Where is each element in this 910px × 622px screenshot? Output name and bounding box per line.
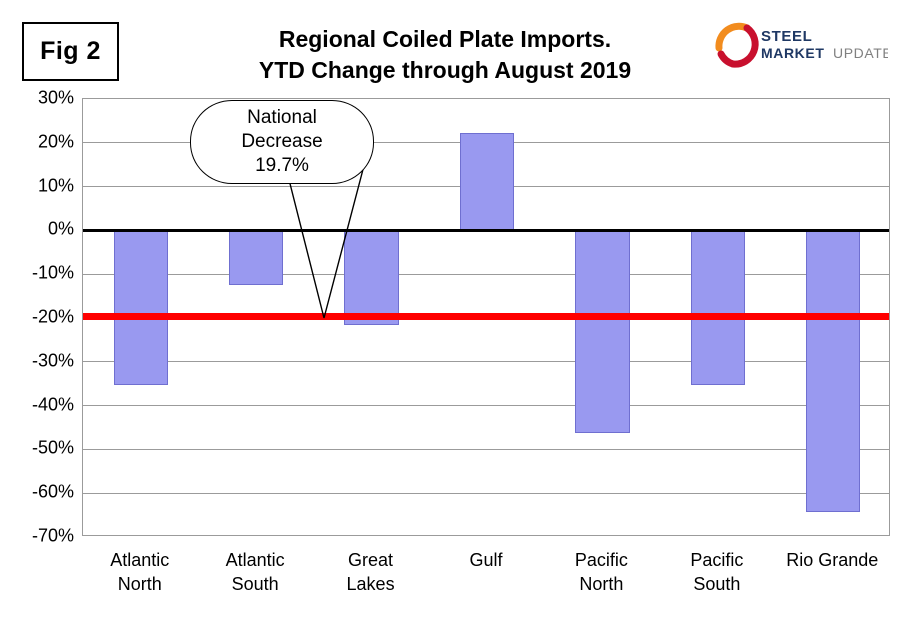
svg-text:MARKET: MARKET xyxy=(761,45,824,61)
chart-title-line2: YTD Change through August 2019 xyxy=(180,55,710,86)
gridline xyxy=(83,361,889,362)
y-axis-tick-label: 0% xyxy=(4,219,74,240)
callout-line-1: National xyxy=(247,106,317,130)
chart-title: Regional Coiled Plate Imports. YTD Chang… xyxy=(180,24,710,86)
x-axis-tick-label-line: Rio Grande xyxy=(775,548,890,572)
x-axis-tick-label-line: Atlantic xyxy=(197,548,312,572)
bar xyxy=(460,133,514,231)
x-axis-tick-label-line: Gulf xyxy=(428,548,543,572)
steel-market-update-logo: STEEL MARKET UPDATE xyxy=(713,18,888,70)
x-axis-tick-label: PacificSouth xyxy=(659,548,774,597)
callout-line-3: 19.7% xyxy=(255,154,309,178)
gridline xyxy=(83,493,889,494)
x-axis-tick-label: PacificNorth xyxy=(544,548,659,597)
logo-icon: STEEL MARKET UPDATE xyxy=(713,18,888,70)
national-decrease-reference-line xyxy=(83,313,889,320)
x-axis-tick-label: GreatLakes xyxy=(313,548,428,597)
x-axis-tick-label-line: Lakes xyxy=(313,572,428,596)
x-axis-tick-label-line: Pacific xyxy=(544,548,659,572)
x-axis-tick-label-line: South xyxy=(197,572,312,596)
x-axis-tick-label: Gulf xyxy=(428,548,543,572)
bar xyxy=(806,230,860,512)
y-axis-tick-label: -70% xyxy=(4,526,74,547)
y-axis-tick-label: -10% xyxy=(4,263,74,284)
gridline xyxy=(83,405,889,406)
chart-title-line1: Regional Coiled Plate Imports. xyxy=(180,24,710,55)
bar xyxy=(575,230,629,432)
gridline xyxy=(83,274,889,275)
x-axis-tick-label-line: Atlantic xyxy=(82,548,197,572)
figure-label: Fig 2 xyxy=(40,37,101,66)
figure-label-box: Fig 2 xyxy=(22,22,119,81)
bar xyxy=(691,230,745,385)
y-axis-tick-label: -60% xyxy=(4,482,74,503)
y-axis-tick-label: -30% xyxy=(4,350,74,371)
bar xyxy=(114,230,168,385)
y-axis-tick-label: 30% xyxy=(4,88,74,109)
callout-line-2: Decrease xyxy=(241,130,322,154)
x-axis-tick-label-line: North xyxy=(544,572,659,596)
x-axis-tick-label-line: North xyxy=(82,572,197,596)
callout-bubble: National Decrease 19.7% xyxy=(190,100,374,184)
svg-text:UPDATE: UPDATE xyxy=(833,45,888,61)
bar xyxy=(344,230,398,325)
x-axis-tick-label: AtlanticSouth xyxy=(197,548,312,597)
y-axis-tick-label: -20% xyxy=(4,307,74,328)
zero-axis-line xyxy=(83,229,889,232)
y-axis-tick-label: -40% xyxy=(4,394,74,415)
x-axis-tick-label-line: South xyxy=(659,572,774,596)
y-axis-tick-label: 10% xyxy=(4,175,74,196)
x-axis-tick-label-line: Great xyxy=(313,548,428,572)
bar xyxy=(229,230,283,284)
x-axis-tick-label: AtlanticNorth xyxy=(82,548,197,597)
svg-text:STEEL: STEEL xyxy=(761,28,812,45)
y-axis-tick-label: 20% xyxy=(4,131,74,152)
x-axis-tick-label-line: Pacific xyxy=(659,548,774,572)
x-axis-tick-label: Rio Grande xyxy=(775,548,890,572)
y-axis-tick-label: -50% xyxy=(4,438,74,459)
gridline xyxy=(83,449,889,450)
